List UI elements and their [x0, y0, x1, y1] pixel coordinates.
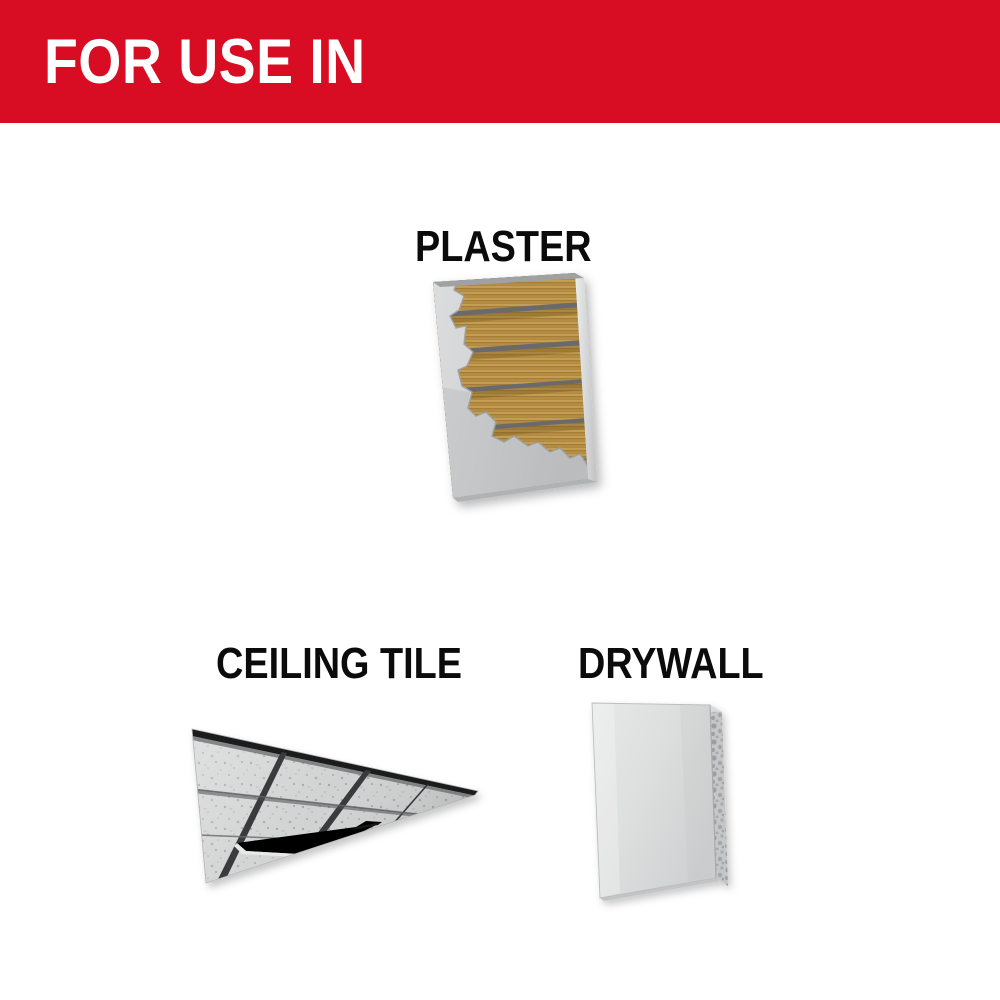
material-label-drywall: DRYWALL [578, 642, 764, 686]
material-card-drywall: DRYWALL [0, 0, 1000, 1000]
drywall-panel-illustration [570, 690, 780, 905]
